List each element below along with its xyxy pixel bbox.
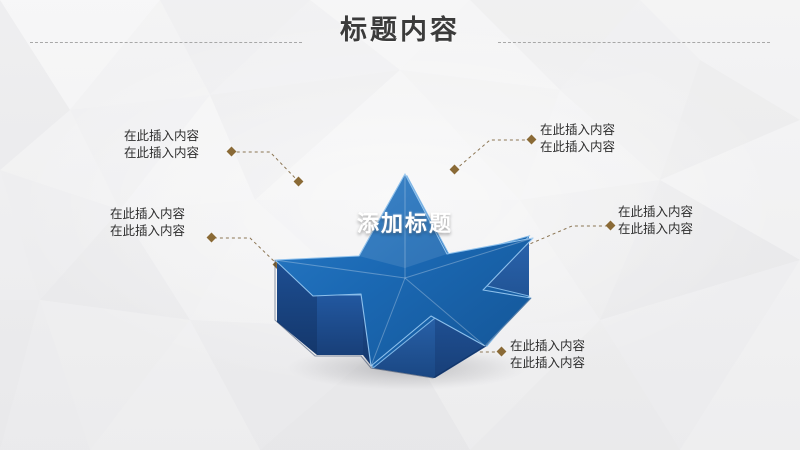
- callout-top-right-line1: 在此插入内容: [540, 122, 615, 139]
- callout-bottom-line1: 在此插入内容: [510, 338, 585, 355]
- callout-bottom-line2: 在此插入内容: [510, 355, 585, 372]
- callout-bottom: 在此插入内容 在此插入内容: [510, 338, 585, 372]
- callout-top-left-line2: 在此插入内容: [124, 145, 199, 162]
- star-top-highlight: [359, 174, 447, 268]
- callout-middle-right: 在此插入内容 在此插入内容: [618, 204, 693, 238]
- callout-middle-right-line1: 在此插入内容: [618, 204, 693, 221]
- page-title: 标题内容: [0, 8, 800, 52]
- callout-top-left: 在此插入内容 在此插入内容: [124, 128, 199, 162]
- callout-top-left-line1: 在此插入内容: [124, 128, 199, 145]
- callout-middle-left-line2: 在此插入内容: [110, 223, 185, 240]
- callout-middle-left-line1: 在此插入内容: [110, 206, 185, 223]
- slide-canvas: 标题内容: [0, 0, 800, 450]
- callout-top-right: 在此插入内容 在此插入内容: [540, 122, 615, 156]
- callout-middle-right-line2: 在此插入内容: [618, 221, 693, 238]
- slide-header: 标题内容: [0, 0, 800, 66]
- star-side-left-lower: [317, 295, 363, 355]
- callout-middle-left: 在此插入内容 在此插入内容: [110, 206, 185, 240]
- callout-top-right-line2: 在此插入内容: [540, 139, 615, 156]
